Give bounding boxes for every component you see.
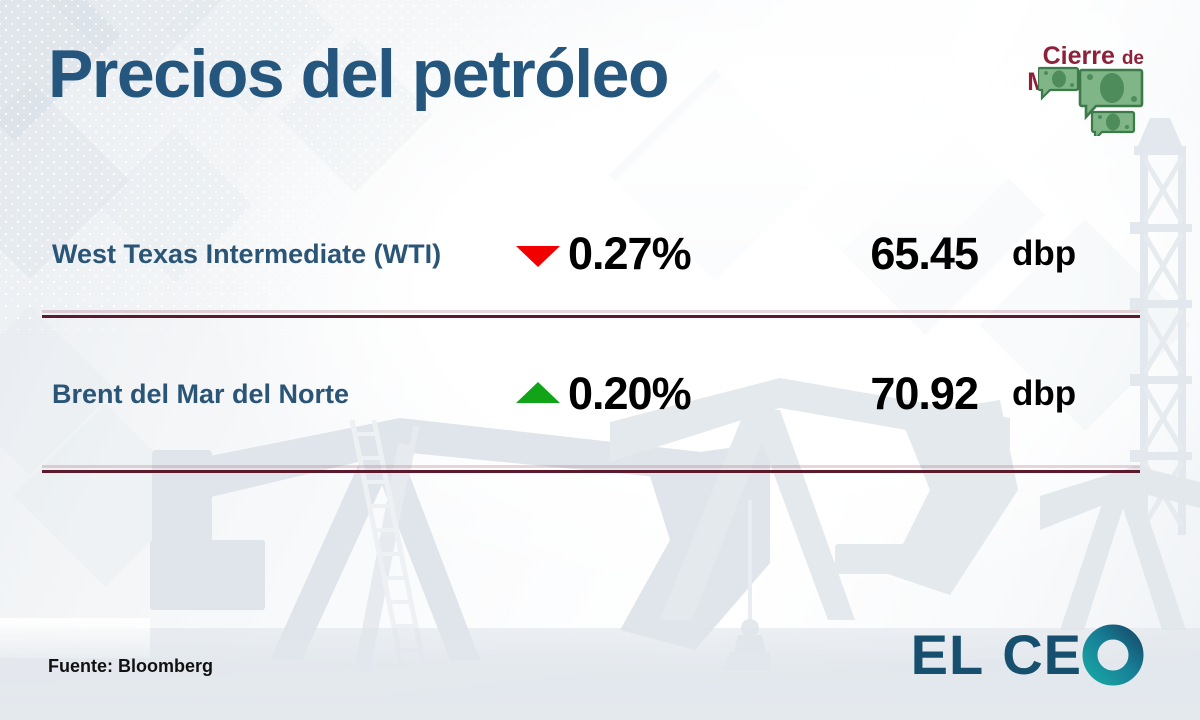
table-row: Brent del Mar del Norte 0.20% 70.92 dbp	[0, 362, 1200, 426]
source-label: Fuente: Bloomberg	[48, 656, 213, 677]
table-row: West Texas Intermediate (WTI) 0.27% 65.4…	[0, 222, 1200, 286]
price-value: 70.92	[828, 368, 978, 420]
change-percent: 0.20%	[568, 368, 691, 420]
price-value: 65.45	[828, 228, 978, 280]
change-indicator: 0.20%	[516, 368, 691, 420]
triangle-up-icon	[516, 382, 560, 403]
brand-logo-cierre-mercados: Cierre de Mercados	[1027, 44, 1144, 96]
row-divider	[42, 315, 1140, 318]
ring-o-icon	[1082, 624, 1144, 686]
page-title: Precios del petróleo	[48, 40, 668, 108]
divider-glow	[42, 465, 1140, 468]
price-unit: dbp	[1012, 234, 1076, 274]
change-indicator: 0.27%	[516, 228, 691, 280]
infographic-canvas: Precios del petróleo	[0, 0, 1200, 720]
logo-text-el: EL	[911, 622, 985, 687]
divider-glow	[42, 310, 1140, 313]
row-divider	[42, 470, 1140, 473]
brand-logo-elceo: EL CE	[911, 622, 1144, 687]
asset-name: Brent del Mar del Norte	[52, 379, 349, 410]
change-percent: 0.27%	[568, 228, 691, 280]
logo-text-ce: CE	[1002, 622, 1082, 687]
triangle-down-icon	[516, 246, 560, 267]
footer-panel-notch	[0, 618, 150, 658]
price-unit: dbp	[1012, 374, 1076, 414]
asset-name: West Texas Intermediate (WTI)	[52, 239, 441, 270]
money-speech-bubbles-icon	[1038, 64, 1144, 136]
